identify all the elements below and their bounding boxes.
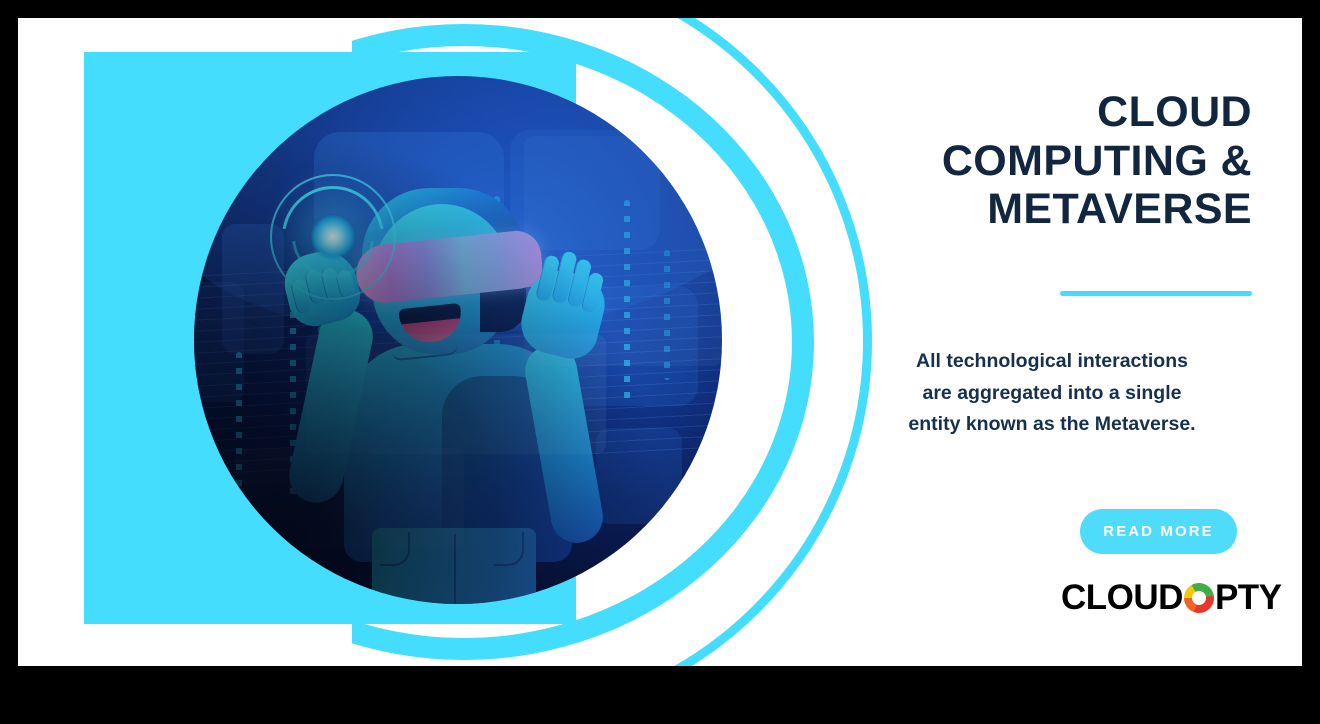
headline-line-3: METAVERSE bbox=[987, 185, 1252, 233]
hologram-hud-icon bbox=[270, 174, 396, 300]
subtitle-line-2: are aggregated into a single bbox=[923, 382, 1182, 404]
subtitle-text: All technological interactions are aggre… bbox=[852, 346, 1252, 441]
banner-canvas: CLOUD COMPUTING & METAVERSE All technolo… bbox=[18, 18, 1302, 666]
logo-ring-o-icon bbox=[1184, 583, 1214, 613]
hud-glow-core bbox=[310, 214, 356, 260]
logo-text-before: CLOUD bbox=[1061, 578, 1183, 618]
illustration-panel bbox=[18, 18, 818, 666]
avatar bbox=[194, 76, 722, 604]
accent-divider bbox=[1060, 291, 1252, 296]
content-panel: CLOUD COMPUTING & METAVERSE All technolo… bbox=[818, 18, 1302, 666]
cloudopty-logo[interactable]: CLOUD PTY bbox=[1061, 578, 1282, 618]
read-more-button[interactable]: READ MORE bbox=[1080, 509, 1237, 554]
illustration-circle bbox=[194, 76, 722, 604]
outer-frame: CLOUD COMPUTING & METAVERSE All technolo… bbox=[0, 0, 1320, 724]
avatar-pocket bbox=[380, 532, 410, 566]
headline-line-2: COMPUTING & bbox=[942, 137, 1252, 185]
subtitle-line-1: All technological interactions bbox=[916, 350, 1188, 372]
logo-text-after: PTY bbox=[1215, 578, 1282, 618]
subtitle-line-3: entity known as the Metaverse. bbox=[908, 413, 1195, 435]
headline-line-1: CLOUD bbox=[1097, 88, 1252, 136]
page-title: CLOUD COMPUTING & METAVERSE bbox=[852, 88, 1252, 234]
avatar-pocket bbox=[494, 532, 524, 566]
